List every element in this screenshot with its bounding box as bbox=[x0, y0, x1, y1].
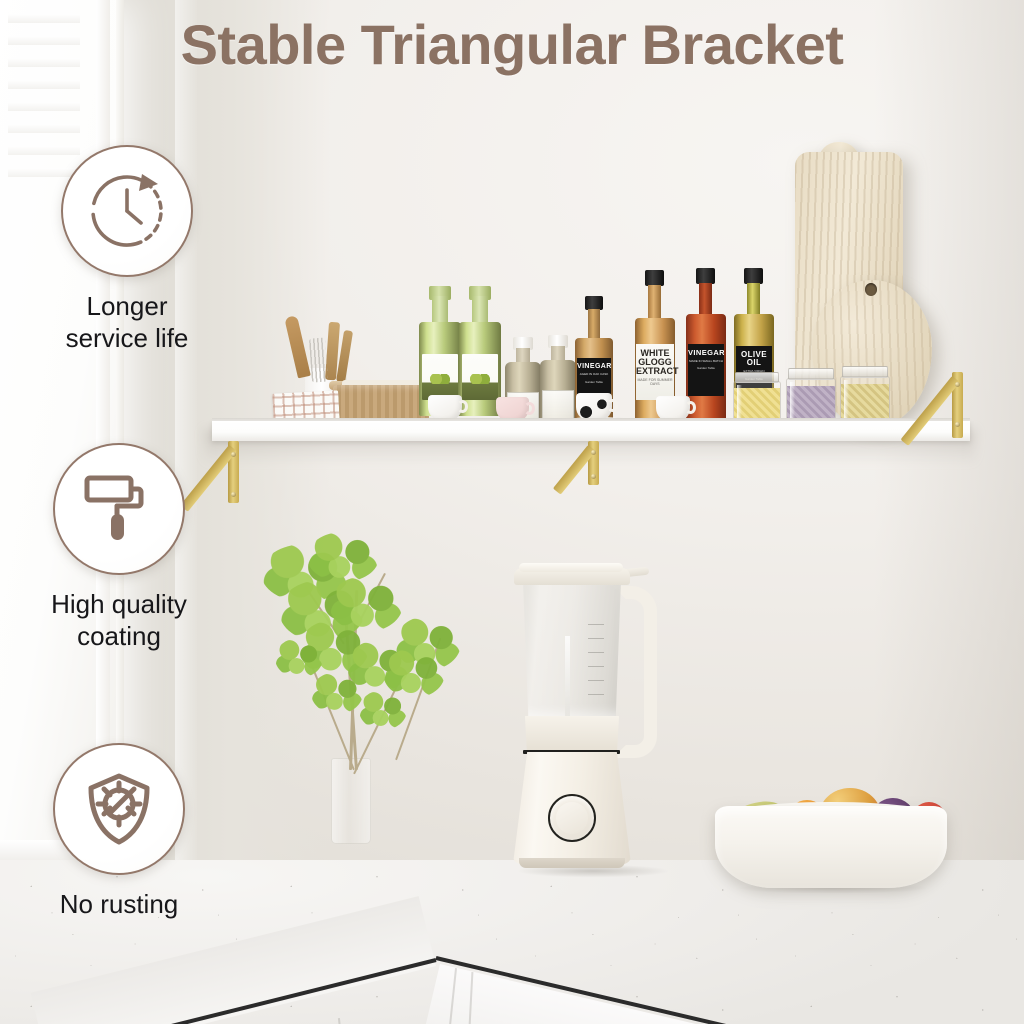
feature-high-quality-coating: High quality coating bbox=[14, 443, 224, 652]
blender-jar bbox=[520, 584, 624, 718]
feature-label: High quality coating bbox=[14, 589, 224, 652]
kitchen-blender bbox=[505, 560, 675, 870]
bottle-label-brand: Garden Table bbox=[688, 366, 724, 370]
bottle-label-title: WHITE GLOGG EXTRACT bbox=[636, 349, 674, 375]
bottle-label-title: VINEGAR bbox=[688, 349, 724, 357]
feature-longer-service-life: Longer service life bbox=[22, 145, 232, 354]
cup-handle bbox=[685, 401, 696, 414]
product-image-canvas: VINEGAR AGED IN OAK CASK Garden Table WH… bbox=[0, 0, 1024, 1024]
paint-roller-icon bbox=[79, 469, 159, 549]
fruit-bowl bbox=[715, 780, 947, 888]
feature-label-line1: High quality bbox=[14, 589, 224, 621]
bottle-label-brand: Garden Table bbox=[577, 380, 611, 384]
bottle-label-sub: MADE IN SMALL BATCH bbox=[688, 359, 724, 364]
feature-no-rusting: No rusting bbox=[14, 743, 224, 921]
window-frame-inner bbox=[116, 0, 124, 870]
cup-handle bbox=[607, 399, 618, 412]
utensil-whisk bbox=[309, 338, 328, 383]
feature-label: No rusting bbox=[14, 889, 224, 921]
blender-blade-shaft bbox=[565, 636, 570, 720]
bottle-label-sub: MADE FOR SUMMER DAYS bbox=[636, 378, 674, 386]
blender-collar bbox=[523, 716, 621, 752]
bottle-label-title: OLIVE OIL bbox=[736, 351, 772, 367]
bottle-label-title: VINEGAR bbox=[577, 363, 611, 370]
feature-label: Longer service life bbox=[22, 291, 232, 354]
feature-label-line2: coating bbox=[14, 621, 224, 653]
page-title: Stable Triangular Bracket bbox=[0, 12, 1024, 77]
feature-label-line1: Longer bbox=[22, 291, 232, 323]
feature-icon-circle bbox=[61, 145, 193, 277]
blender-lid-top bbox=[519, 563, 623, 572]
round-board-hole bbox=[865, 283, 877, 296]
bottle-label-sub: AGED IN OAK CASK bbox=[577, 372, 611, 377]
shield-no-rust-icon bbox=[79, 769, 159, 849]
blender-knob-inner[interactable] bbox=[556, 802, 588, 834]
window-frame bbox=[96, 0, 110, 870]
feature-icon-circle bbox=[53, 743, 185, 875]
potted-branch-plant bbox=[255, 530, 470, 845]
clock-arrow-icon bbox=[84, 168, 170, 254]
shelf-board bbox=[212, 421, 970, 441]
cup-handle bbox=[457, 400, 468, 413]
blender-foot bbox=[519, 858, 625, 868]
feature-label-line1: No rusting bbox=[14, 889, 224, 921]
feature-icon-circle bbox=[53, 443, 185, 575]
glass-vase bbox=[331, 758, 371, 844]
feature-label-line2: service life bbox=[22, 323, 232, 355]
cup-handle bbox=[524, 402, 535, 415]
bowl-body bbox=[715, 806, 947, 888]
